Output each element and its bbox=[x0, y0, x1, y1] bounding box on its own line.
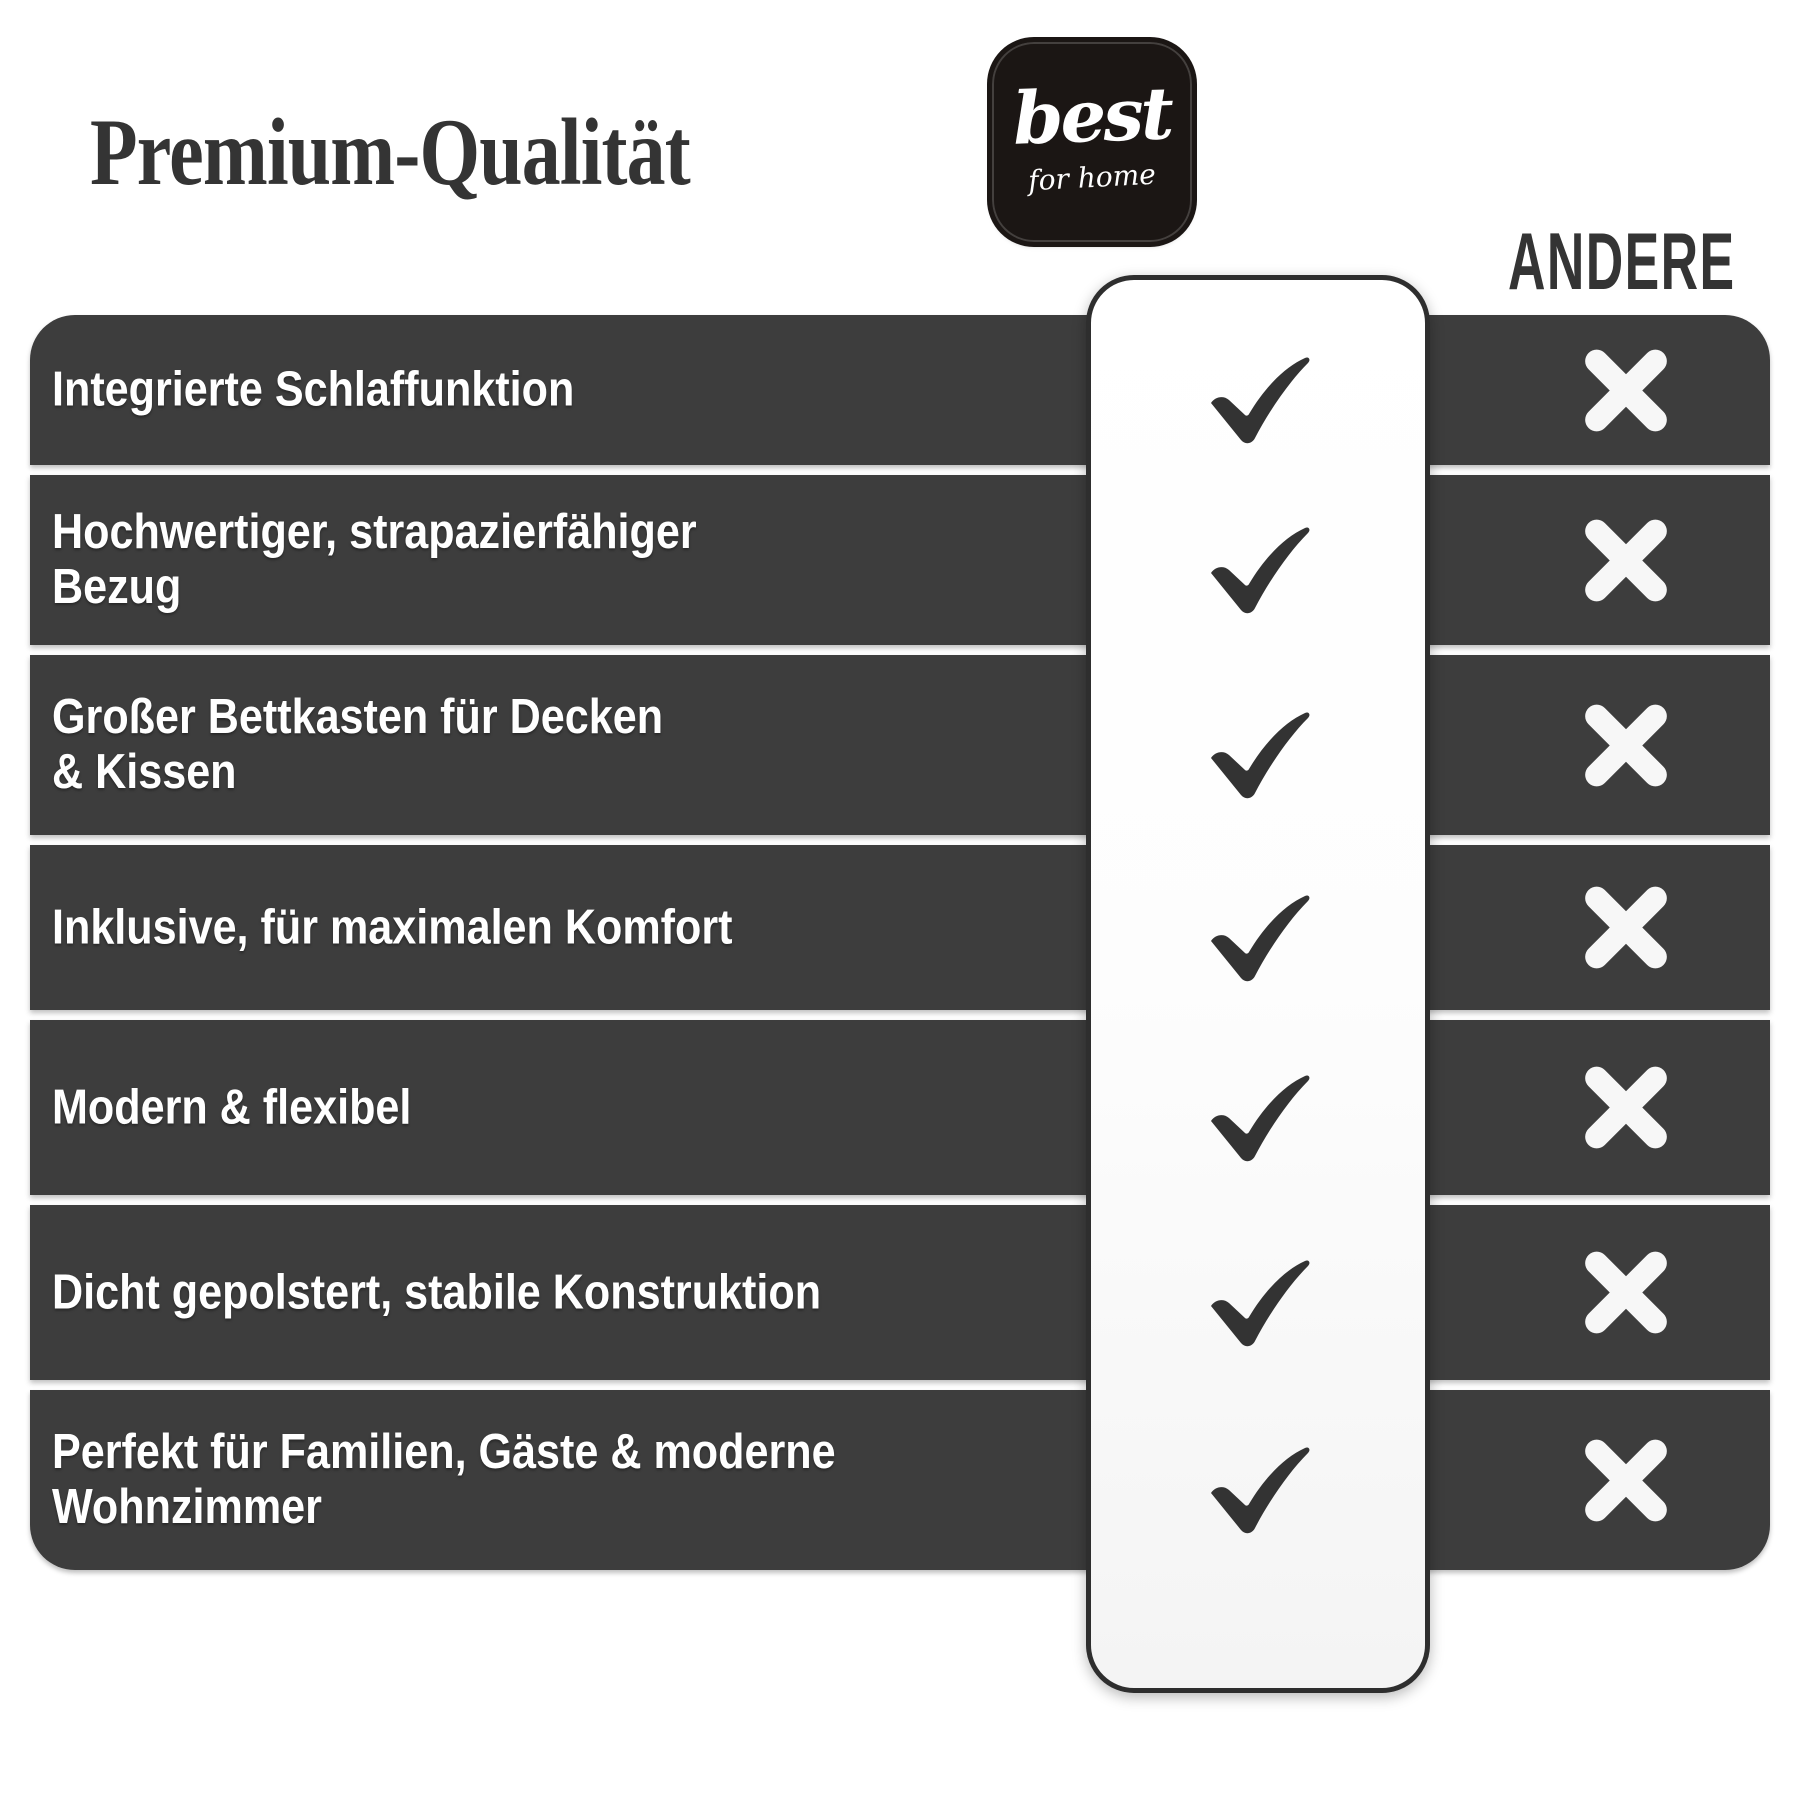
cross-icon bbox=[1571, 1053, 1681, 1163]
logo-brand-text: best bbox=[992, 77, 1192, 156]
feature-row-list: Integrierte SchlaffunktionHochwertiger, … bbox=[30, 315, 1770, 1570]
feature-label: Integrierte Schlaffunktion bbox=[52, 363, 1090, 418]
cross-icon bbox=[1571, 690, 1681, 800]
feature-row: Modern & flexibel bbox=[30, 1020, 1770, 1195]
cross-icon bbox=[1571, 1238, 1681, 1348]
feature-label: Modern & flexibel bbox=[52, 1080, 1090, 1135]
cross-icon bbox=[1571, 1425, 1681, 1535]
feature-row: Inklusive, für maximalen Komfort bbox=[30, 845, 1770, 1010]
feature-row: Perfekt für Familien, Gäste & moderne Wo… bbox=[30, 1390, 1770, 1570]
feature-label: Perfekt für Familien, Gäste & moderne Wo… bbox=[52, 1425, 1090, 1535]
feature-row: Großer Bettkasten für Decken & Kissen bbox=[30, 655, 1770, 835]
comparison-infographic: Premium-Qualität best for home ANDERE In… bbox=[0, 0, 1800, 1800]
feature-row: Hochwertiger, strapazierfähiger Bezug bbox=[30, 475, 1770, 645]
competitor-column-header: ANDERE bbox=[1508, 222, 1736, 303]
cross-icon bbox=[1571, 505, 1681, 615]
brand-logo: best for home bbox=[992, 42, 1192, 242]
feature-row: Dicht gepolstert, stabile Konstruktion bbox=[30, 1205, 1770, 1380]
page-title: Premium-Qualität bbox=[90, 105, 690, 200]
cross-icon bbox=[1571, 873, 1681, 983]
feature-row: Integrierte Schlaffunktion bbox=[30, 315, 1770, 465]
feature-label: Dicht gepolstert, stabile Konstruktion bbox=[52, 1265, 1090, 1320]
feature-label: Inklusive, für maximalen Komfort bbox=[52, 900, 1090, 955]
cross-icon bbox=[1571, 335, 1681, 445]
feature-label: Großer Bettkasten für Decken & Kissen bbox=[52, 690, 1090, 800]
highlight-column bbox=[1086, 275, 1430, 1693]
feature-label: Hochwertiger, strapazierfähiger Bezug bbox=[52, 505, 1090, 615]
